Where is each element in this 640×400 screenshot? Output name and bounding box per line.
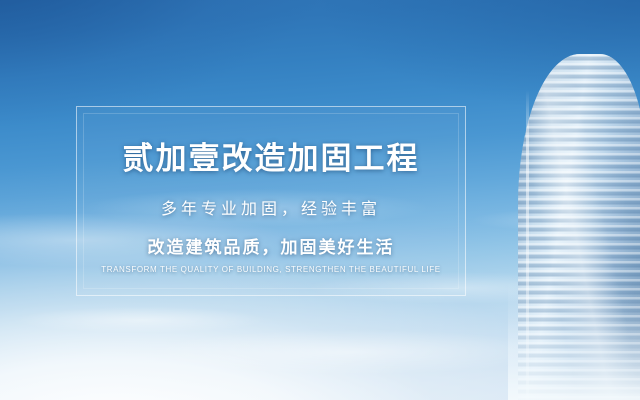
- tagline-text: 改造建筑品质，加固美好生活: [77, 233, 465, 258]
- subtitle-text: 多年专业加固，经验丰富: [77, 195, 465, 219]
- headline-text: 贰加壹改造加固工程: [77, 133, 465, 178]
- banner-image: 贰加壹改造加固工程 多年专业加固，经验丰富 改造建筑品质，加固美好生活 TRAN…: [0, 0, 640, 400]
- tower-edge-mullion: [526, 90, 529, 400]
- latin-tagline-text: TRANSFORM THE QUALITY OF BUILDING, STREN…: [77, 265, 465, 274]
- text-frame: 贰加壹改造加固工程 多年专业加固，经验丰富 改造建筑品质，加固美好生活 TRAN…: [76, 106, 466, 296]
- tower-facade-bands: [518, 54, 640, 400]
- skyscraper: [518, 54, 640, 400]
